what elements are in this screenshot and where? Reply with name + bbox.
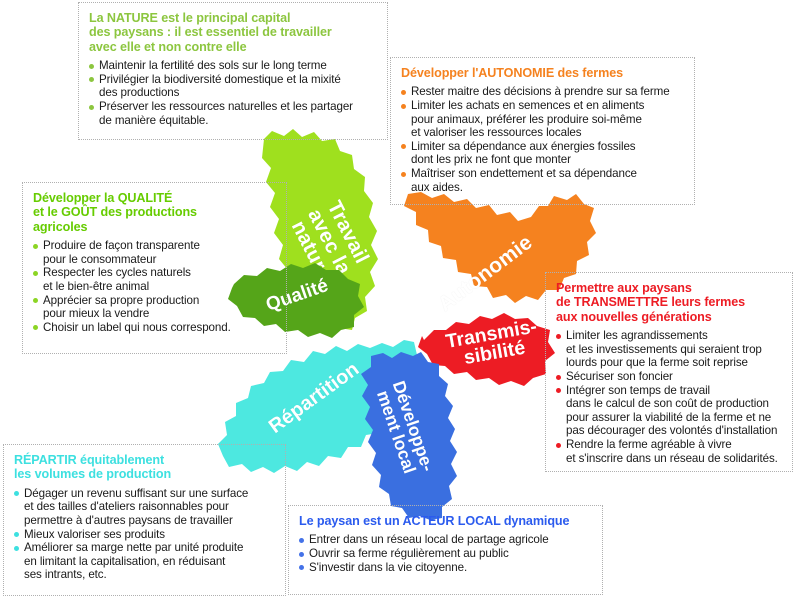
list-item: Rendre la ferme agréable à vivre et s'in…	[556, 438, 782, 465]
infographic-canvas: Travail avec la nature Autonomie Qualité…	[0, 0, 795, 599]
petal-developpement-local	[346, 350, 464, 522]
list-item: Respecter les cycles naturels et le bien…	[33, 266, 276, 293]
panel-transmission-heading: Permettre aux paysans de TRANSMETTRE leu…	[556, 281, 782, 324]
panel-autonomy-list: Rester maitre des décisions à prendre su…	[401, 85, 684, 194]
panel-local-list: Entrer dans un réseau local de partage a…	[299, 533, 592, 574]
list-item: Limiter les agrandissements et les inves…	[556, 329, 782, 370]
list-item: Limiter les achats en semences et en ali…	[401, 99, 684, 140]
panel-autonomy: Développer l'AUTONOMIE des fermes Rester…	[390, 57, 695, 205]
panel-local: Le paysan est un ACTEUR LOCAL dynamique …	[288, 505, 603, 595]
list-item: Maîtriser son endettement et sa dépendan…	[401, 167, 684, 194]
panel-nature: La NATURE est le principal capital des p…	[78, 2, 388, 140]
panel-quality-list: Produire de façon transparente pour le c…	[33, 239, 276, 334]
list-item: Sécuriser son foncier	[556, 370, 782, 384]
panel-repartition-list: Dégager un revenu suffisant sur une surf…	[14, 487, 275, 582]
list-item: Préserver les ressources naturelles et l…	[89, 100, 377, 127]
panel-transmission: Permettre aux paysans de TRANSMETTRE leu…	[545, 272, 793, 472]
list-item: S'investir dans la vie citoyenne.	[299, 561, 592, 575]
panel-quality: Développer la QUALITÉ et le GOÛT des pro…	[22, 182, 287, 354]
list-item: Dégager un revenu suffisant sur une surf…	[14, 487, 275, 528]
petal-shape-local	[361, 352, 457, 520]
list-item: Intégrer son temps de travail dans le ca…	[556, 384, 782, 438]
list-item: Privilégier la biodiversité domestique e…	[89, 73, 377, 100]
panel-local-heading: Le paysan est un ACTEUR LOCAL dynamique	[299, 514, 592, 528]
panel-repartition-heading: RÉPARTIR équitablement les volumes de pr…	[14, 453, 275, 482]
panel-autonomy-heading: Développer l'AUTONOMIE des fermes	[401, 66, 684, 80]
list-item: Ouvrir sa ferme régulièrement au public	[299, 547, 592, 561]
list-item: Limiter sa dépendance aux énergies fossi…	[401, 140, 684, 167]
panel-nature-list: Maintenir la fertilité des sols sur le l…	[89, 59, 377, 127]
list-item: Mieux valoriser ses produits	[14, 528, 275, 542]
list-item: Rester maitre des décisions à prendre su…	[401, 85, 684, 99]
list-item: Apprécier sa propre production pour mieu…	[33, 294, 276, 321]
list-item: Améliorer sa marge nette par unité produ…	[14, 541, 275, 582]
list-item: Entrer dans un réseau local de partage a…	[299, 533, 592, 547]
list-item: Choisir un label qui nous correspond.	[33, 321, 276, 335]
panel-transmission-list: Limiter les agrandissements et les inves…	[556, 329, 782, 465]
list-item: Maintenir la fertilité des sols sur le l…	[89, 59, 377, 73]
panel-repartition: RÉPARTIR équitablement les volumes de pr…	[3, 444, 286, 596]
panel-quality-heading: Développer la QUALITÉ et le GOÛT des pro…	[33, 191, 276, 234]
panel-nature-heading: La NATURE est le principal capital des p…	[89, 11, 377, 54]
list-item: Produire de façon transparente pour le c…	[33, 239, 276, 266]
